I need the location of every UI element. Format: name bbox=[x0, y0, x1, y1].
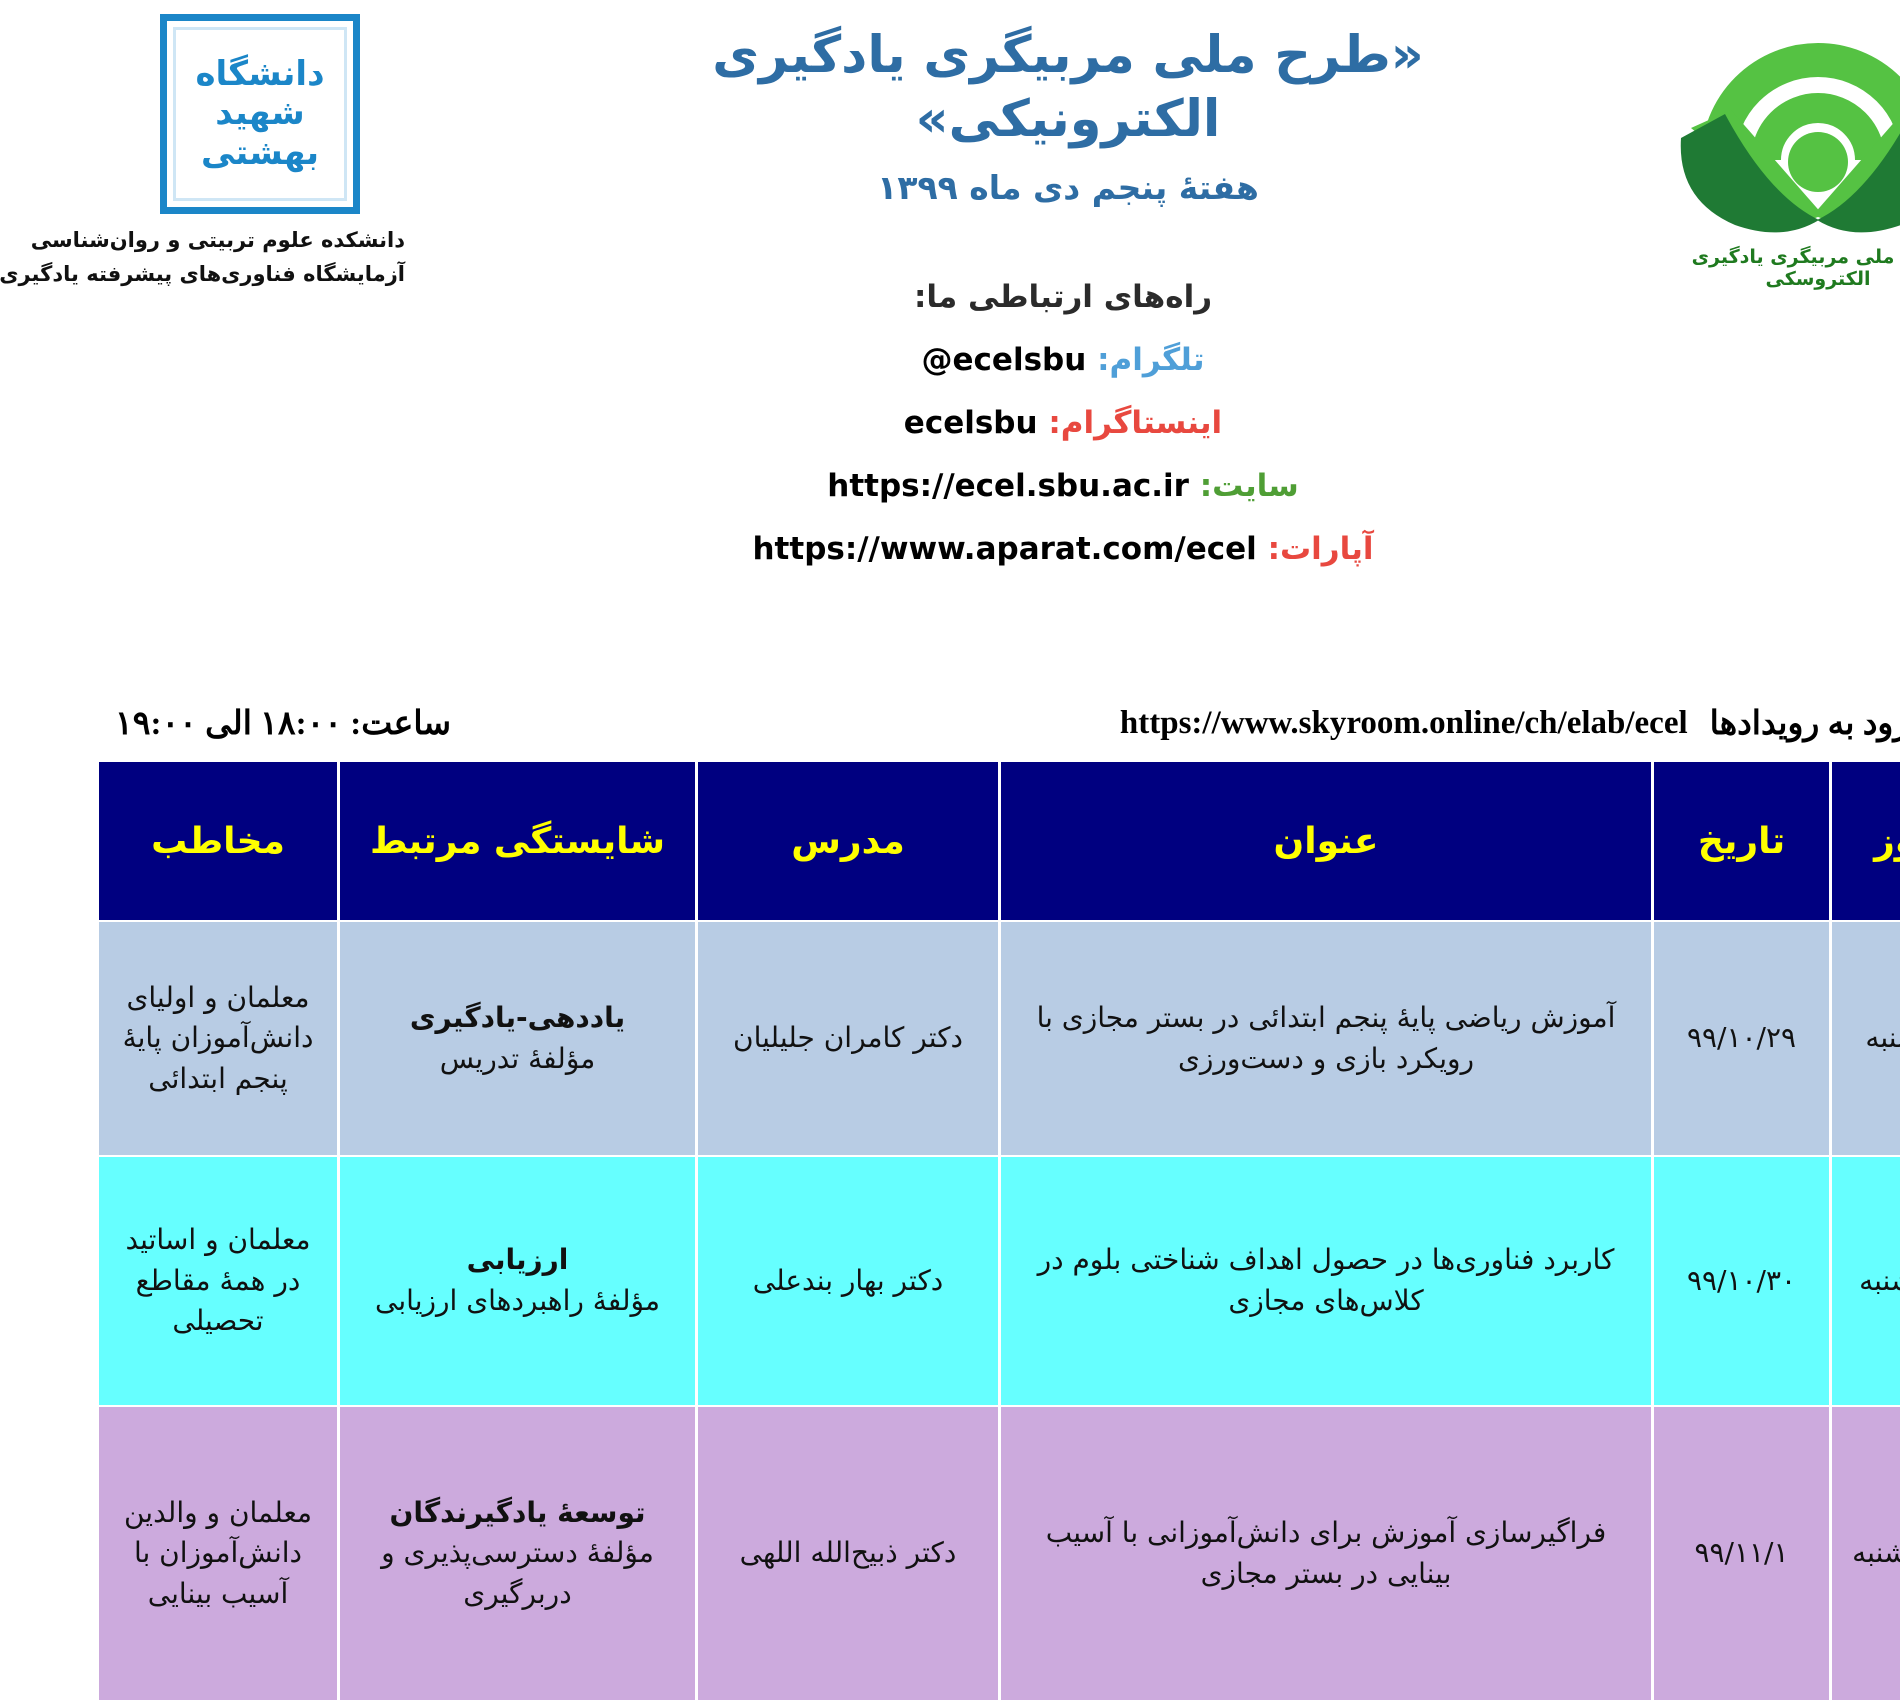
event-link-bar: لینک ورود به رویدادها https://www.skyroo… bbox=[0, 695, 1900, 751]
page-title: «طرح ملی مربیگری یادگیری الکترونیکی» bbox=[460, 24, 1470, 152]
cell-competency: ارزیابی مؤلفهٔ راهبردهای ارزیابی bbox=[237, 1157, 592, 1405]
table-header-row: روز تاریخ عنوان مدرس شایستگی مرتبط مخاطب bbox=[0, 762, 1877, 920]
column-header-teacher: مدرس bbox=[595, 762, 895, 920]
competency-main: ارزیابی bbox=[253, 1240, 576, 1281]
sbu-logo-icon: دانشگاه شهید بهشتی bbox=[57, 14, 257, 214]
contact-separator: : bbox=[945, 405, 957, 441]
contact-row-aparat: آپارات: https://www.aparat.com/ecel bbox=[580, 534, 1340, 565]
cell-day: سه‌شنبه bbox=[1729, 1157, 1877, 1405]
event-link-url[interactable]: https://www.skyroom.online/ch/elab/ecel bbox=[1017, 705, 1607, 742]
title-block: «طرح ملی مربیگری یادگیری الکترونیکی» هفت… bbox=[460, 24, 1470, 207]
cell-date: ۹۹/۱۱/۱ bbox=[1551, 1407, 1726, 1700]
contact-separator: : bbox=[1097, 468, 1109, 504]
contact-separator: : bbox=[994, 342, 1006, 378]
contact-label-telegram: تلگرام bbox=[1007, 342, 1102, 378]
cell-title: کاربرد فناوری‌ها در حصول اهداف شناختی بل… bbox=[898, 1157, 1548, 1405]
lab-name: آزمایشگاه فناوری‌های پیشرفته یادگیری bbox=[12, 258, 302, 292]
cell-day: چهارشنبه bbox=[1729, 1407, 1877, 1700]
cell-title: آموزش ریاضی پایهٔ پنجم ابتدائی در بستر م… bbox=[898, 922, 1548, 1155]
cell-competency: توسعهٔ یادگیرندگان مؤلفهٔ دسترسی‌پذیری و… bbox=[237, 1407, 592, 1700]
contact-intro: راه‌های ارتباطی ما: bbox=[580, 282, 1340, 313]
page-subtitle: هفتهٔ پنجم دی ماه ۱۳۹۹ bbox=[460, 168, 1470, 207]
sbu-logo-text: دانشگاه شهید بهشتی bbox=[73, 55, 241, 172]
ecel-logo-caption: طرح ملی مربیگری یادگیری الکتروسکی bbox=[1550, 246, 1880, 290]
sbu-logo-block: دانشگاه شهید بهشتی دانشکده علوم تربیتی و… bbox=[12, 14, 302, 291]
contact-value-aparat[interactable]: https://www.aparat.com/ecel bbox=[649, 534, 1153, 565]
table-row: دوشنبه ۹۹/۱۰/۲۹ آموزش ریاضی پایهٔ پنجم ا… bbox=[0, 922, 1877, 1155]
cell-title: فراگیرسازی آموزش برای دانش‌آموزانی با آس… bbox=[898, 1407, 1548, 1700]
competency-main: توسعهٔ یادگیرندگان bbox=[253, 1493, 576, 1534]
table-row: چهارشنبه ۹۹/۱۱/۱ فراگیرسازی آموزش برای د… bbox=[0, 1407, 1877, 1700]
contact-label-aparat: آپارات bbox=[1177, 531, 1271, 567]
ecel-logo-block: طرح ملی مربیگری یادگیری الکتروسکی bbox=[1550, 10, 1880, 290]
competency-sub: مؤلفهٔ دسترسی‌پذیری و دربرگیری bbox=[253, 1533, 576, 1614]
column-header-title: عنوان bbox=[898, 762, 1548, 920]
cell-audience: معلمان و اساتید در همهٔ مقاطع تحصیلی bbox=[0, 1157, 234, 1405]
cell-date: ۹۹/۱۰/۲۹ bbox=[1551, 922, 1726, 1155]
contact-value-telegram[interactable]: @ecelsbu bbox=[819, 345, 984, 376]
cell-teacher: دکتر ذبیح‌الله اللهی bbox=[595, 1407, 895, 1700]
faculty-name: دانشکده علوم تربیتی و روان‌شناسی bbox=[12, 224, 302, 258]
competency-sub: مؤلفهٔ راهبردهای ارزیابی bbox=[253, 1281, 576, 1322]
column-header-date: تاریخ bbox=[1551, 762, 1726, 920]
cell-day: دوشنبه bbox=[1729, 922, 1877, 1155]
contact-value-instagram[interactable]: ecelsbu bbox=[801, 408, 935, 439]
column-header-day: روز bbox=[1729, 762, 1877, 920]
cell-audience: معلمان و والدین دانش‌آموزان با آسیب بینا… bbox=[0, 1407, 234, 1700]
contact-row-instagram: اینستاگرام: ecelsbu bbox=[580, 408, 1340, 439]
poster-header: دانشگاه شهید بهشتی دانشکده علوم تربیتی و… bbox=[0, 0, 1900, 660]
contact-separator: : bbox=[1165, 531, 1177, 567]
cell-teacher: دکتر کامران جلیلیان bbox=[595, 922, 895, 1155]
schedule-table: روز تاریخ عنوان مدرس شایستگی مرتبط مخاطب… bbox=[0, 760, 1880, 1702]
cell-competency: یاددهی-یادگیری مؤلفهٔ تدریس bbox=[237, 922, 592, 1155]
contact-value-site[interactable]: https://ecel.sbu.ac.ir bbox=[724, 471, 1086, 502]
column-header-competency: شایستگی مرتبط bbox=[237, 762, 592, 920]
competency-sub: مؤلفهٔ تدریس bbox=[253, 1039, 576, 1080]
cell-date: ۹۹/۱۰/۳۰ bbox=[1551, 1157, 1726, 1405]
contact-label-instagram: اینستاگرام bbox=[958, 405, 1119, 441]
column-header-audience: مخاطب bbox=[0, 762, 234, 920]
contact-row-telegram: تلگرام: @ecelsbu bbox=[580, 345, 1340, 376]
event-time: ساعت: ۱۸:۰۰ الی ۱۹:۰۰ bbox=[0, 703, 348, 743]
cell-teacher: دکتر بهار بندعلی bbox=[595, 1157, 895, 1405]
contact-block: راه‌های ارتباطی ما: تلگرام: @ecelsbu این… bbox=[580, 282, 1340, 597]
contact-row-site: سایت: https://ecel.sbu.ac.ir bbox=[580, 471, 1340, 502]
event-link-label: لینک ورود به رویدادها bbox=[1607, 703, 1900, 743]
ecel-logo-icon bbox=[1570, 10, 1860, 240]
contact-label-site: سایت bbox=[1109, 468, 1196, 504]
table-row: سه‌شنبه ۹۹/۱۰/۳۰ کاربرد فناوری‌ها در حصو… bbox=[0, 1157, 1877, 1405]
cell-audience: معلمان و اولیای دانش‌آموزان پایهٔ پنجم ا… bbox=[0, 922, 234, 1155]
competency-main: یاددهی-یادگیری bbox=[253, 998, 576, 1039]
